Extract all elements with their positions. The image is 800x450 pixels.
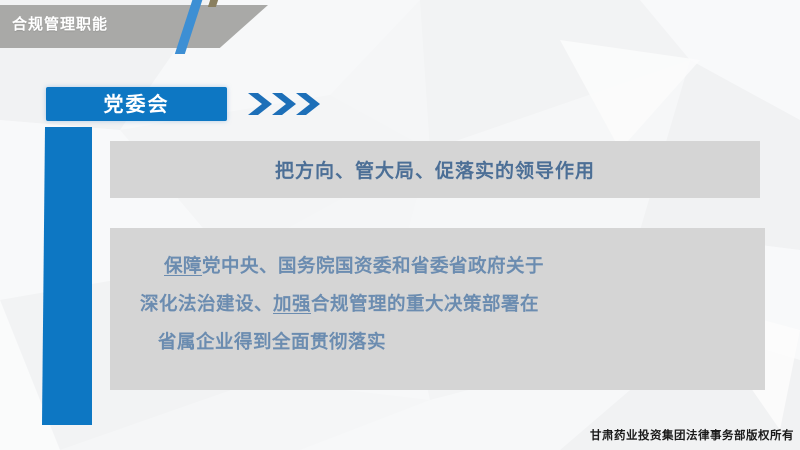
presentation-slide: 合规管理职能 党委会 把方向、管大局、促落实的领导作用 保障党中央、国务院国资委… bbox=[0, 0, 800, 450]
category-tag-label: 党委会 bbox=[104, 94, 170, 114]
category-tag-badge[interactable]: 党委会 bbox=[46, 87, 227, 121]
slide-title: 合规管理职能 bbox=[12, 13, 108, 34]
panel-secondary-line-2-underlined: 加强 bbox=[273, 294, 311, 315]
panel-secondary-line-1-rest: 党中央、国务院国资委和省委省政府关于 bbox=[202, 256, 544, 277]
chevron-right-icon-group bbox=[248, 91, 320, 117]
copyright-footer: 甘肃药业投资集团法律事务部版权所有 bbox=[590, 427, 794, 443]
panel-secondary-line-1: 保障党中央、国务院国资委和省委省政府关于 bbox=[140, 248, 740, 286]
panel-secondary-line-3: 省属企业得到全面贯彻落实 bbox=[140, 324, 740, 362]
panel-primary-text: 把方向、管大局、促落实的领导作用 bbox=[110, 141, 760, 198]
left-accent-bar bbox=[42, 127, 92, 425]
panel-secondary-text: 保障党中央、国务院国资委和省委省政府关于 深化法治建设、加强合规管理的重大决策部… bbox=[140, 248, 740, 362]
panel-secondary-line-2-prefix: 深化法治建设、 bbox=[140, 294, 273, 315]
panel-secondary-line-2: 深化法治建设、加强合规管理的重大决策部署在 bbox=[140, 286, 740, 324]
panel-secondary-line-1-underlined: 保障 bbox=[164, 256, 202, 277]
panel-secondary-line-2-rest: 合规管理的重大决策部署在 bbox=[311, 294, 539, 315]
